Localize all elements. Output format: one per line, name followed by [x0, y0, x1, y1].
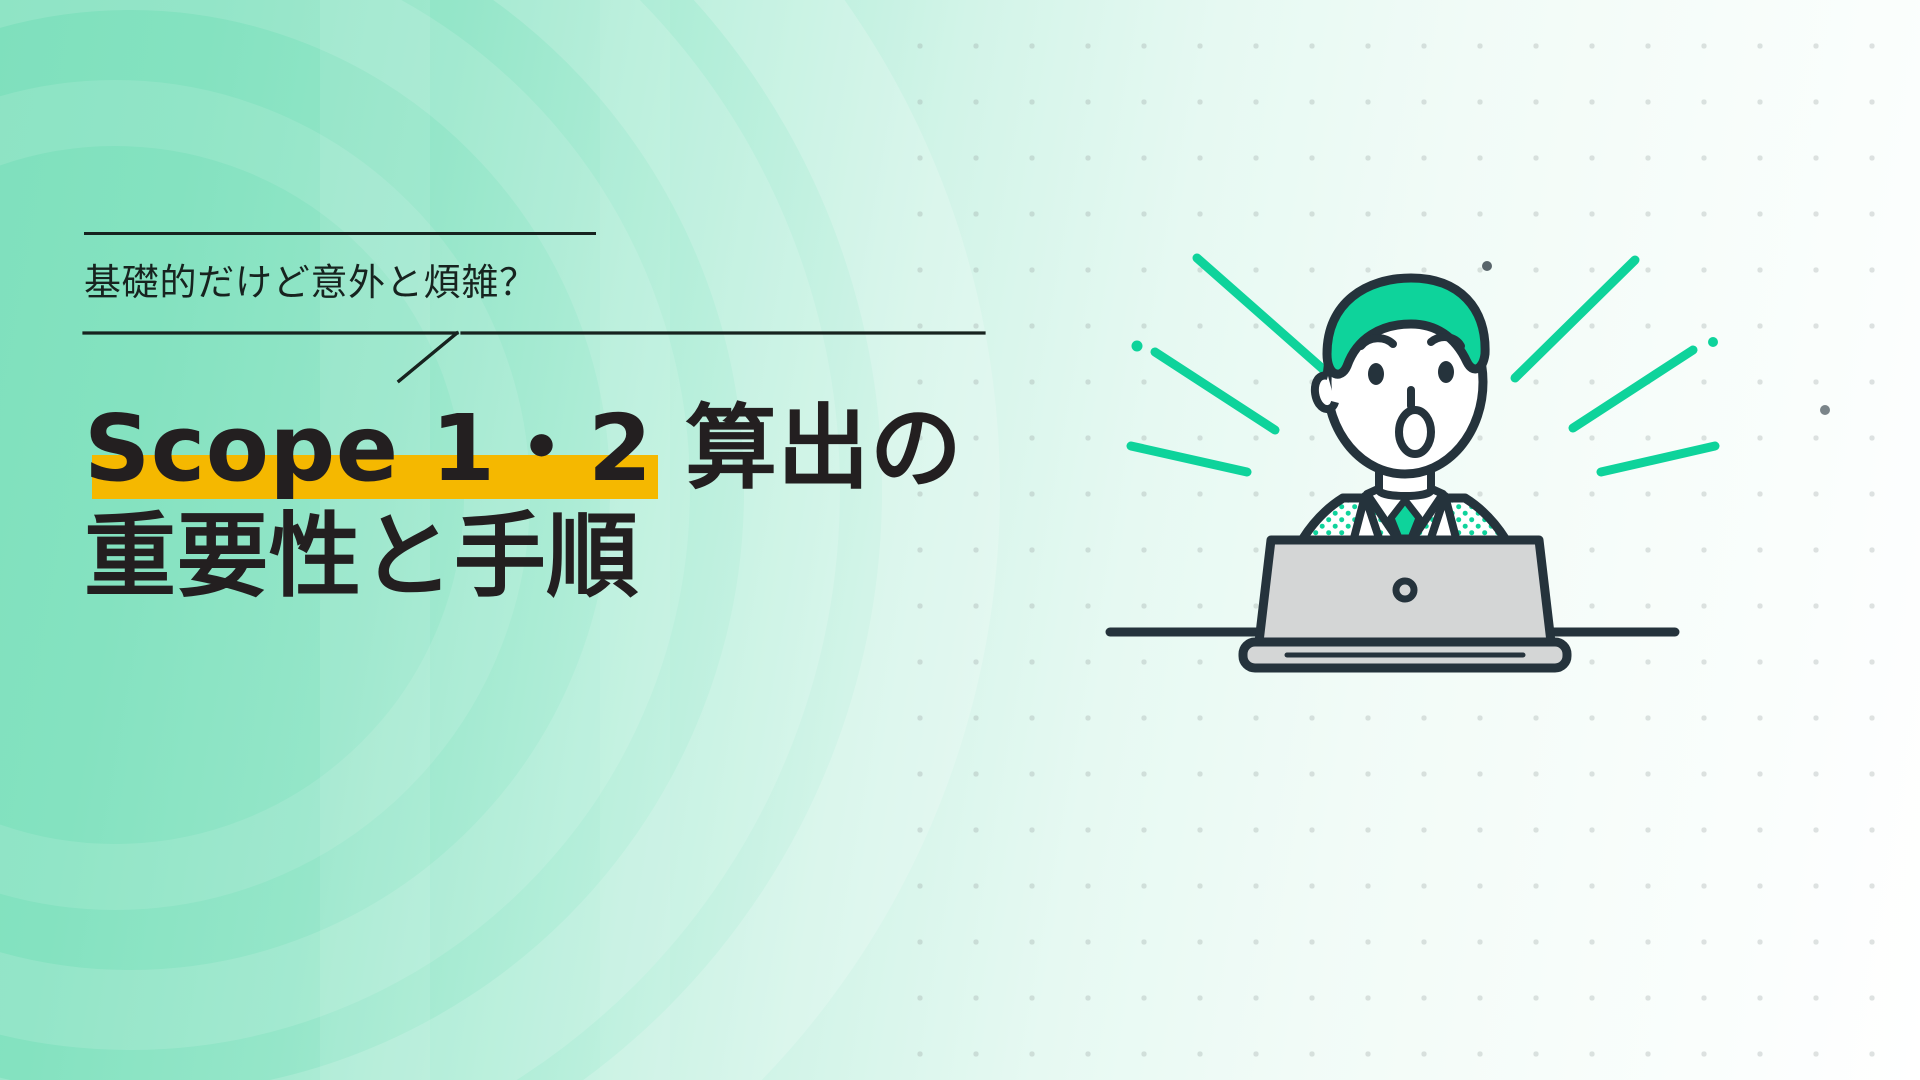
banner-subtitle: 基礎的だけど意外と煩雑？: [84, 264, 984, 301]
title-line-1: Scope 1・2 算出の: [84, 395, 962, 503]
burst-dot-left: [1132, 341, 1143, 352]
burst-dot-right: [1708, 337, 1718, 347]
burst-lines-right: [1515, 260, 1715, 472]
headline-block: 基礎的だけど意外と煩雑？ Scope 1・2 算出の 重要性と手順: [84, 232, 984, 610]
burst-lines-left: [1131, 258, 1333, 472]
eye-left: [1368, 363, 1384, 385]
eye-right: [1438, 361, 1454, 383]
accent-dot-right: [1820, 405, 1830, 415]
accent-dot-top: [1482, 261, 1492, 271]
laptop-screen: [1259, 540, 1551, 642]
banner-title: Scope 1・2 算出の 重要性と手順: [84, 395, 984, 610]
rule-above-subtitle: [84, 232, 596, 235]
rule-with-diagonal-break: [84, 327, 984, 387]
banner-root: 基礎的だけど意外と煩雑？ Scope 1・2 算出の 重要性と手順: [0, 0, 1920, 1080]
illustration-surprised-businessman: [1215, 250, 1855, 810]
mouth-surprised: [1399, 410, 1431, 454]
title-line-2: 重要性と手順: [84, 503, 639, 611]
